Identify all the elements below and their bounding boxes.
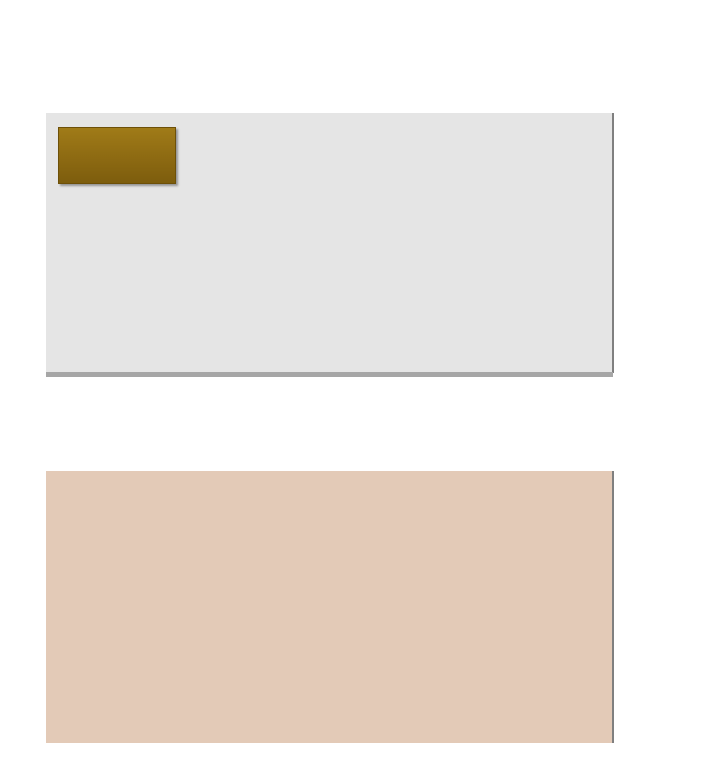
y-axis-line-bot xyxy=(613,471,614,743)
y-axis-commercials xyxy=(613,471,703,743)
x-axis-dates xyxy=(46,384,613,460)
goldreporter-logo xyxy=(58,127,176,184)
plot-area-commercials xyxy=(46,471,613,743)
page-header xyxy=(46,6,686,24)
x-tickmarks-top xyxy=(46,377,613,383)
logo-text xyxy=(59,128,175,183)
y-axis-speculators xyxy=(613,113,703,373)
bar-series-commercials xyxy=(46,471,613,743)
chart-commercials xyxy=(46,471,613,743)
y-axis-line-top xyxy=(613,113,614,373)
